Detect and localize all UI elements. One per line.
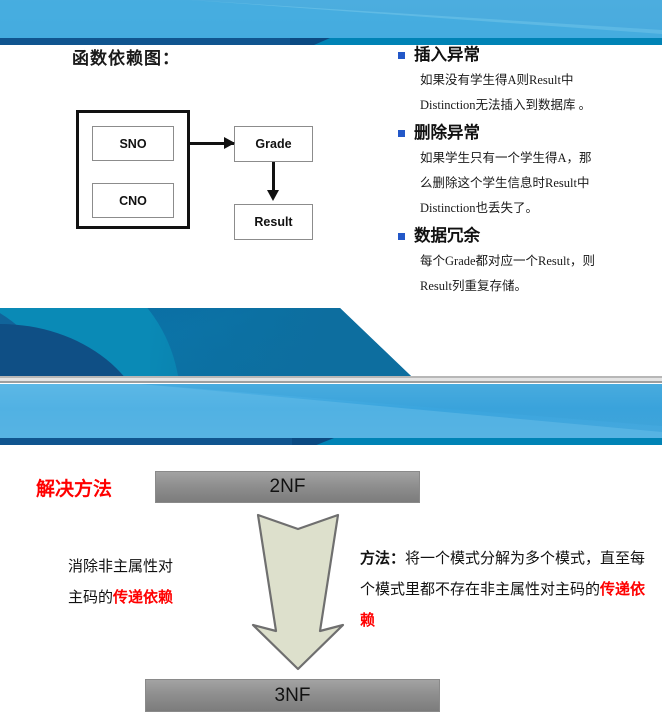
attribute-box-grade: Grade	[234, 126, 313, 162]
bullet-block-data-redundancy: 数据冗余 每个Grade都对应一个Result，则 Result列重复存储。	[398, 225, 656, 299]
diagram-title: 函数依赖图：	[72, 44, 180, 69]
bullet-body: 如果没有学生得A则Result中 Distinction无法插入到数据库 。	[420, 68, 656, 118]
top-banner-diagonal-shape	[0, 0, 662, 38]
bullet-body-line: 么删除这个学生信息时Result中	[420, 171, 656, 196]
down-arrow-icon	[250, 513, 346, 671]
slide-one: 函数依赖图： SNO CNO Grade Result 插入异常 如果没有学生得…	[0, 0, 662, 383]
bullet-body-line: 如果学生只有一个学生得A，那	[420, 146, 656, 171]
bullet-body: 如果学生只有一个学生得A，那 么删除这个学生信息时Result中 Distinc…	[420, 146, 656, 221]
bullet-body-line: Distinction也丢失了。	[420, 196, 656, 221]
left-note-highlight: 传递依赖	[113, 589, 173, 606]
bullet-heading-label: 删除异常	[414, 122, 480, 144]
bullet-heading: 插入异常	[398, 44, 656, 66]
normal-form-bar-2nf-label: 2NF	[270, 476, 306, 498]
footer-band-shape	[0, 308, 430, 376]
bullet-block-insert-anomaly: 插入异常 如果没有学生得A则Result中 Distinction无法插入到数据…	[398, 44, 656, 118]
bullet-block-delete-anomaly: 删除异常 如果学生只有一个学生得A，那 么删除这个学生信息时Result中 Di…	[398, 122, 656, 221]
bullet-heading-label: 插入异常	[414, 44, 480, 66]
bullet-heading-label: 数据冗余	[414, 225, 480, 247]
bullet-body-line: Distinction无法插入到数据库 。	[420, 93, 656, 118]
solution-label: 解决方法	[36, 474, 112, 501]
normal-form-bar-2nf: 2NF	[155, 471, 420, 503]
left-explanation-note: 消除非主属性对 主码的传递依赖	[68, 551, 248, 613]
bullet-body: 每个Grade都对应一个Result，则 Result列重复存储。	[420, 249, 656, 299]
attribute-box-sno: SNO	[92, 126, 174, 161]
right-explanation-note: 方法：将一个模式分解为多个模式，直至每个模式里都不存在非主属性对主码的传递依赖	[360, 543, 650, 636]
slide-two-banner-strip	[0, 438, 662, 445]
bullet-body-line: Result列重复存储。	[420, 274, 656, 299]
normal-form-bar-3nf: 3NF	[145, 679, 440, 712]
anomaly-bullet-list: 插入异常 如果没有学生得A则Result中 Distinction无法插入到数据…	[398, 44, 656, 303]
square-bullet-icon	[398, 52, 405, 59]
slide-two-strip-right	[300, 438, 662, 445]
left-note-plain: 主码的	[68, 589, 113, 606]
slide-divider	[0, 376, 662, 384]
slide-two-banner-diagonal-shape	[0, 384, 662, 438]
square-bullet-icon	[398, 130, 405, 137]
bullet-body-line: 每个Grade都对应一个Result，则	[420, 249, 656, 274]
dependency-arrow-vertical-icon	[272, 162, 275, 190]
slide-one-top-banner	[0, 0, 662, 38]
attribute-box-result: Result	[234, 204, 313, 240]
dependency-arrow-horizontal-icon	[190, 142, 234, 145]
slide-divider-line-bottom	[0, 381, 662, 383]
bullet-heading: 数据冗余	[398, 225, 656, 247]
attribute-box-cno: CNO	[92, 183, 174, 218]
bullet-body-line: 如果没有学生得A则Result中	[420, 68, 656, 93]
left-note-line-2: 主码的传递依赖	[68, 582, 248, 613]
bullet-heading: 删除异常	[398, 122, 656, 144]
footer-band-fade	[150, 308, 430, 376]
left-note-line-1: 消除非主属性对	[68, 551, 248, 582]
slide-two-strip-left	[0, 438, 320, 445]
slide-two-top-banner	[0, 384, 662, 438]
right-note-label: 方法：	[360, 550, 405, 567]
normal-form-bar-3nf-label: 3NF	[275, 685, 311, 707]
slide-one-footer-band	[0, 308, 662, 376]
square-bullet-icon	[398, 233, 405, 240]
